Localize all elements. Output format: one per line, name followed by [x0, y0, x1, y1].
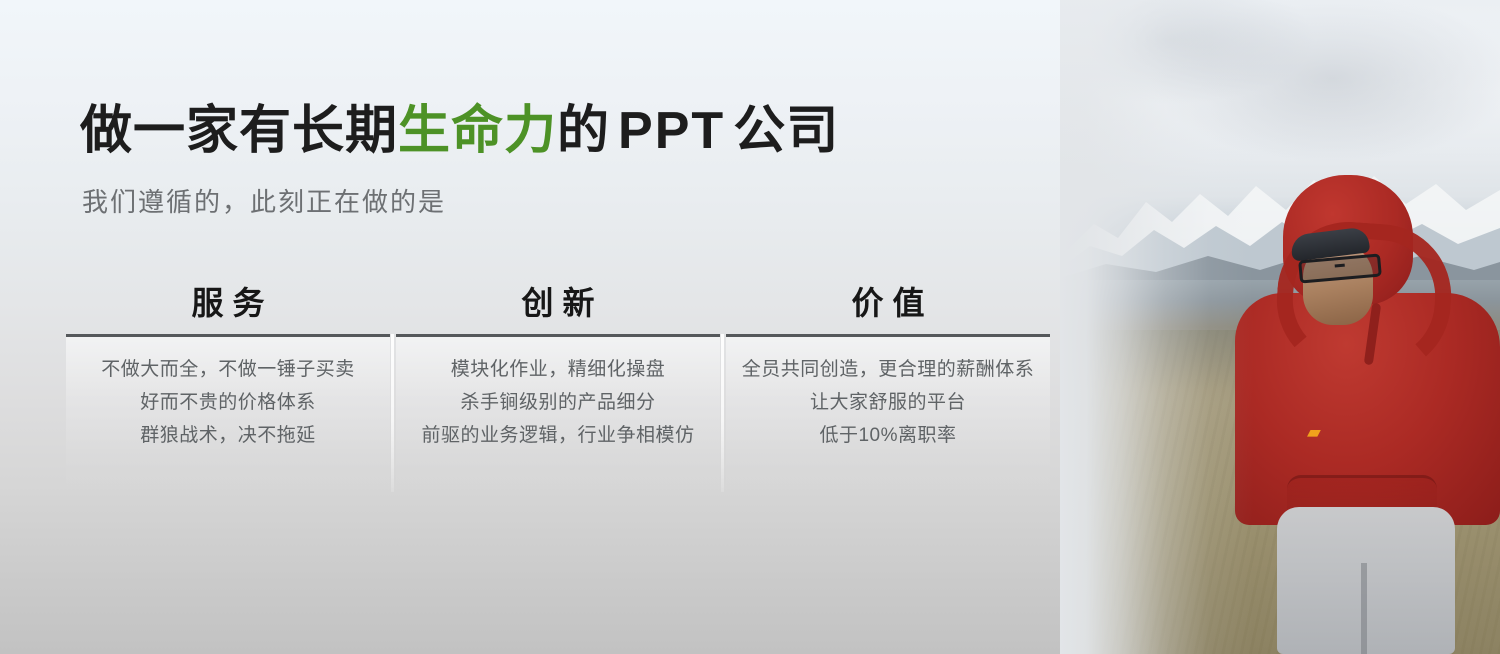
- slide-root: ▰ 做一家有长期生命力的PPT公司 我们遵循的，此刻正在做的是 服务 不做大而全…: [0, 0, 1500, 654]
- hero-photo: ▰: [1060, 0, 1500, 654]
- page-subtitle: 我们遵循的，此刻正在做的是: [82, 182, 446, 219]
- column-innovation: 创新 模块化作业，精细化操盘 杀手锏级别的产品细分 前驱的业务逻辑，行业争相模仿: [396, 278, 720, 496]
- photo-top-feather: [1060, 0, 1500, 654]
- headline-tail: 公司: [733, 102, 839, 160]
- column-line: 低于10%离职率: [819, 419, 956, 452]
- column-value: 价值 全员共同创造，更合理的薪酬体系 让大家舒服的平台 低于10%离职率: [726, 278, 1050, 496]
- column-title: 创新: [512, 278, 603, 334]
- column-body: 不做大而全，不做一锤子买卖 好而不贵的价格体系 群狼战术，决不拖延: [66, 337, 390, 496]
- column-line: 让大家舒服的平台: [810, 386, 966, 419]
- column-divider: [721, 334, 724, 492]
- page-title: 做一家有长期生命力的PPT公司: [80, 105, 839, 157]
- column-title: 价值: [842, 278, 933, 334]
- column-divider: [391, 334, 394, 492]
- headline-latin: PPT: [610, 102, 733, 160]
- column-line: 好而不贵的价格体系: [140, 386, 316, 419]
- column-body: 全员共同创造，更合理的薪酬体系 让大家舒服的平台 低于10%离职率: [726, 337, 1050, 496]
- headline-accent: 生命力: [398, 102, 557, 160]
- column-line: 前驱的业务逻辑，行业争相模仿: [421, 419, 694, 452]
- column-line: 模块化作业，精细化操盘: [451, 353, 666, 386]
- column-line: 杀手锏级别的产品细分: [460, 386, 655, 419]
- column-line: 全员共同创造，更合理的薪酬体系: [742, 353, 1035, 386]
- headline-mid: 的: [557, 102, 610, 160]
- column-line: 不做大而全，不做一锤子买卖: [101, 353, 355, 386]
- value-columns-panel: 服务 不做大而全，不做一锤子买卖 好而不贵的价格体系 群狼战术，决不拖延 创新 …: [66, 278, 1050, 496]
- column-body: 模块化作业，精细化操盘 杀手锏级别的产品细分 前驱的业务逻辑，行业争相模仿: [396, 337, 720, 496]
- column-line: 群狼战术，决不拖延: [140, 419, 316, 452]
- headline-lead: 做一家有长期: [80, 102, 398, 160]
- column-title: 服务: [182, 278, 273, 334]
- column-service: 服务 不做大而全，不做一锤子买卖 好而不贵的价格体系 群狼战术，决不拖延: [66, 278, 390, 496]
